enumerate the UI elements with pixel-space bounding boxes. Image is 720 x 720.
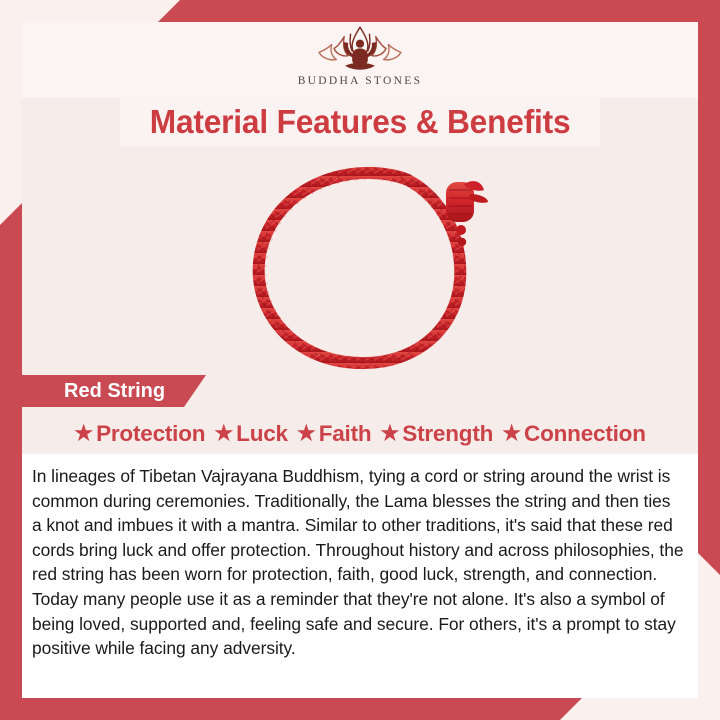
brand-name: BUDDHA STONES [298, 75, 423, 87]
infographic-canvas: BUDDHA STONES Material Features & Benefi… [0, 0, 720, 720]
benefit-item-luck: ★ Luck [211, 421, 291, 447]
star-icon: ★ [502, 423, 521, 444]
product-label-text: Red String [22, 380, 165, 403]
product-hero [22, 146, 698, 378]
star-icon: ★ [297, 423, 316, 444]
star-icon: ★ [214, 423, 233, 444]
lotus-meditation-icon [312, 24, 408, 76]
benefit-label: Connection [524, 421, 646, 447]
product-label-ribbon: Red String [22, 375, 206, 407]
page-surface: BUDDHA STONES Material Features & Benefi… [22, 22, 698, 698]
benefit-item-protection: ★ Protection [71, 421, 208, 447]
title-banner: Material Features & Benefits [120, 98, 600, 146]
benefit-label: Strength [402, 421, 493, 447]
benefit-item-faith: ★ Faith [294, 421, 375, 447]
benefits-list: ★ Protection ★ Luck ★ Faith ★ Strength ★… [22, 413, 698, 454]
product-label-row: Red String [22, 375, 698, 407]
benefit-label: Protection [96, 421, 205, 447]
benefit-item-strength: ★ Strength [377, 421, 496, 447]
benefit-label: Faith [319, 421, 372, 447]
page-title: Material Features & Benefits [150, 103, 571, 141]
red-braided-cord-bracelet [230, 154, 518, 376]
description-text: In lineages of Tibetan Vajrayana Buddhis… [32, 464, 684, 661]
description-panel: In lineages of Tibetan Vajrayana Buddhis… [22, 454, 698, 698]
benefit-item-connection: ★ Connection [499, 421, 649, 447]
star-icon: ★ [380, 423, 399, 444]
brand-logo: BUDDHA STONES [22, 22, 698, 98]
benefit-label: Luck [236, 421, 288, 447]
star-icon: ★ [74, 423, 93, 444]
